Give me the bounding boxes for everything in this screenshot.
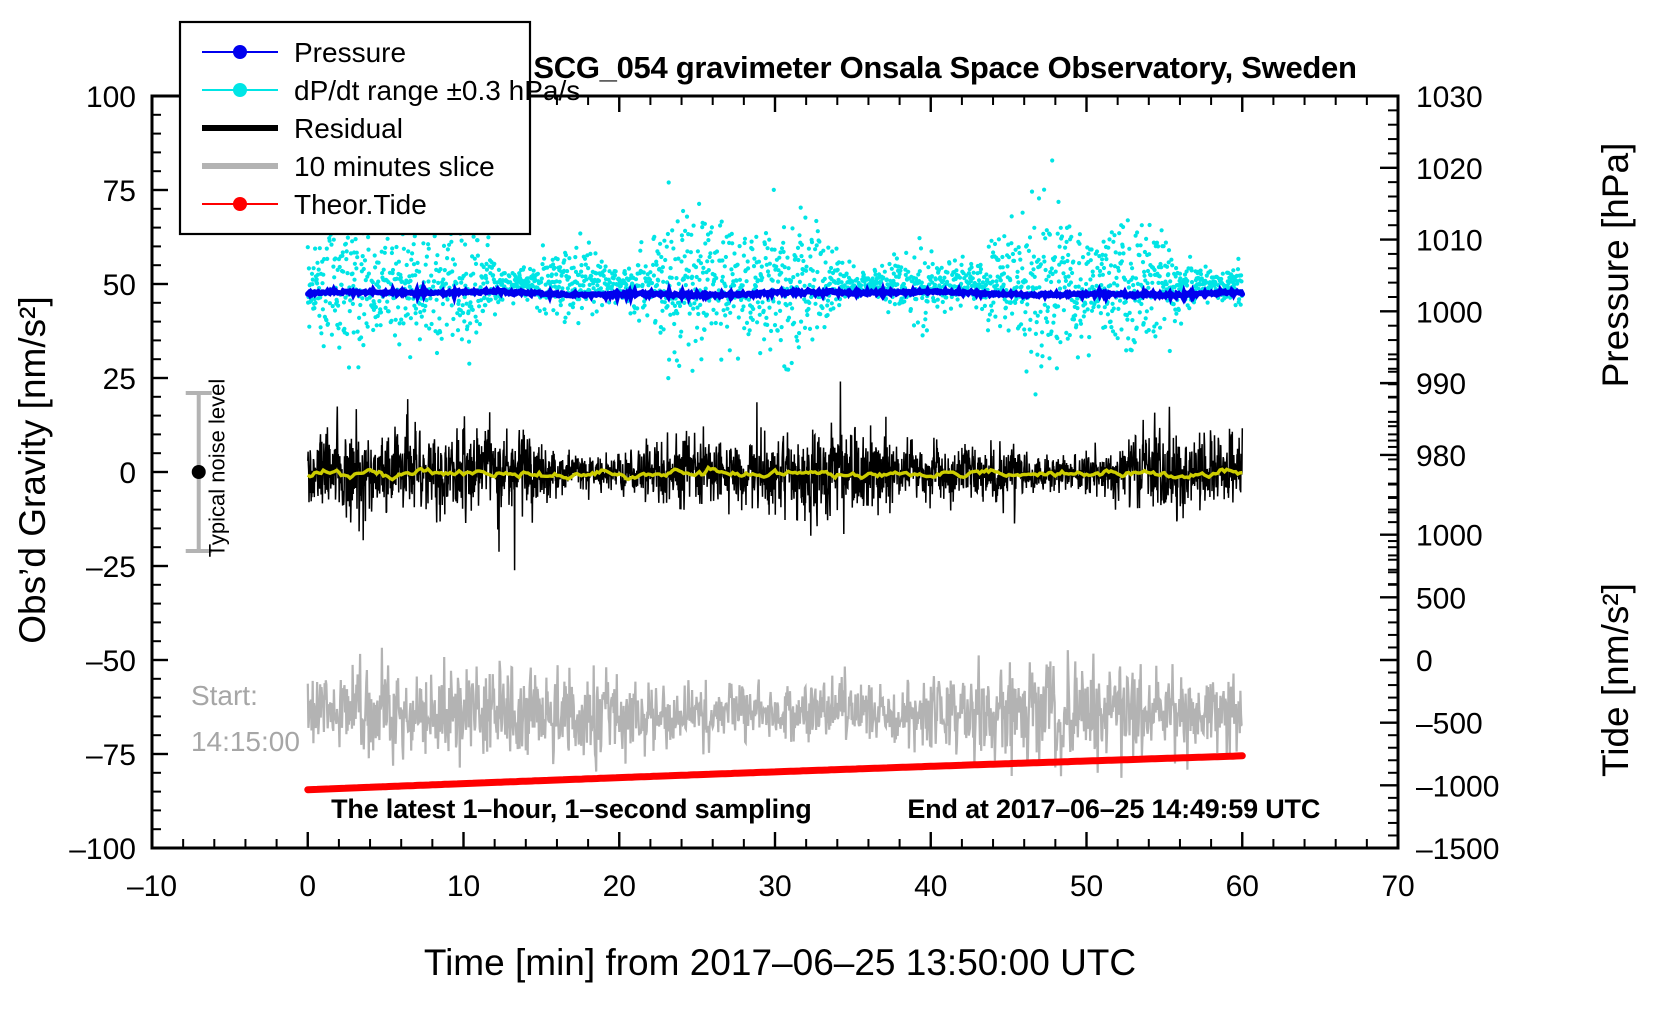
chart-title: SCG_054 gravimeter Onsala Space Observat… (533, 50, 1356, 85)
legend-label: Residual (294, 113, 403, 144)
tide-axis-tick-label: 0 (1416, 645, 1433, 678)
legend-marker-dot (233, 45, 247, 59)
start-label: Start: (191, 680, 258, 711)
tide-axis-tick-label: 500 (1416, 582, 1466, 615)
y-tick-label: –50 (86, 645, 136, 678)
y-tick-label: 75 (103, 175, 136, 208)
y-axis-title-pressure: Pressure [hPa] (1595, 143, 1636, 388)
legend-label: 10 minutes slice (294, 151, 495, 182)
pressure-axis-tick-label: 1000 (1416, 296, 1483, 329)
tide-axis-tick-label: –1500 (1416, 833, 1499, 866)
y-axis-title: Obs’d Gravity [nm/s²] (12, 296, 53, 643)
tide-axis-tick-label: –500 (1416, 708, 1483, 741)
legend-label: Pressure (294, 37, 406, 68)
legend-marker-dot (233, 197, 247, 211)
legend-layer[interactable]: PressuredP/dt range ±0.3 hPa/sResidual10… (180, 22, 580, 234)
y-axis-title-tide: Tide [nm/s²] (1595, 583, 1636, 777)
y-tick-label: 0 (119, 457, 136, 490)
tide-axis-tick-label: 1000 (1416, 520, 1483, 553)
x-tick-label: –10 (127, 870, 177, 903)
x-tick-label: 10 (447, 870, 480, 903)
y-tick-label: –75 (86, 739, 136, 772)
noise-center-dot (192, 465, 206, 479)
sampling-note: The latest 1–hour, 1–second sampling (331, 794, 811, 824)
gravimeter-plot-figure: –10010203040506070–100–75–50–25025507510… (0, 0, 1676, 1020)
y-tick-label: –25 (86, 551, 136, 584)
end-time-note: End at 2017–06–25 14:49:59 UTC (907, 794, 1320, 824)
legend-marker-dot (233, 83, 247, 97)
y-tick-label: 100 (86, 81, 136, 114)
pressure-axis-tick-label: 1010 (1416, 225, 1483, 258)
x-tick-label: 50 (1070, 870, 1103, 903)
x-tick-label: 70 (1381, 870, 1414, 903)
y-tick-label: 50 (103, 269, 136, 302)
typical-noise-level-label: Typical noise level (205, 379, 230, 558)
x-tick-label: 0 (299, 870, 316, 903)
pressure-axis-tick-label: 1020 (1416, 153, 1483, 186)
pressure-axis-tick-label: 990 (1416, 368, 1466, 401)
pressure-axis-tick-label: 1030 (1416, 81, 1483, 114)
start-time-value: 14:15:00 (191, 726, 300, 757)
y-tick-label: 25 (103, 363, 136, 396)
x-tick-label: 60 (1226, 870, 1259, 903)
x-tick-label: 40 (914, 870, 947, 903)
plot-canvas: –10010203040506070–100–75–50–25025507510… (0, 0, 1676, 1020)
pressure-axis-tick-label: 980 (1416, 440, 1466, 473)
tide-axis-tick-label: –1000 (1416, 770, 1499, 803)
x-axis-title: Time [min] from 2017–06–25 13:50:00 UTC (424, 942, 1136, 983)
y-tick-label: –100 (69, 833, 136, 866)
x-tick-label: 30 (758, 870, 791, 903)
x-tick-label: 20 (603, 870, 636, 903)
legend-label: Theor.Tide (294, 189, 427, 220)
